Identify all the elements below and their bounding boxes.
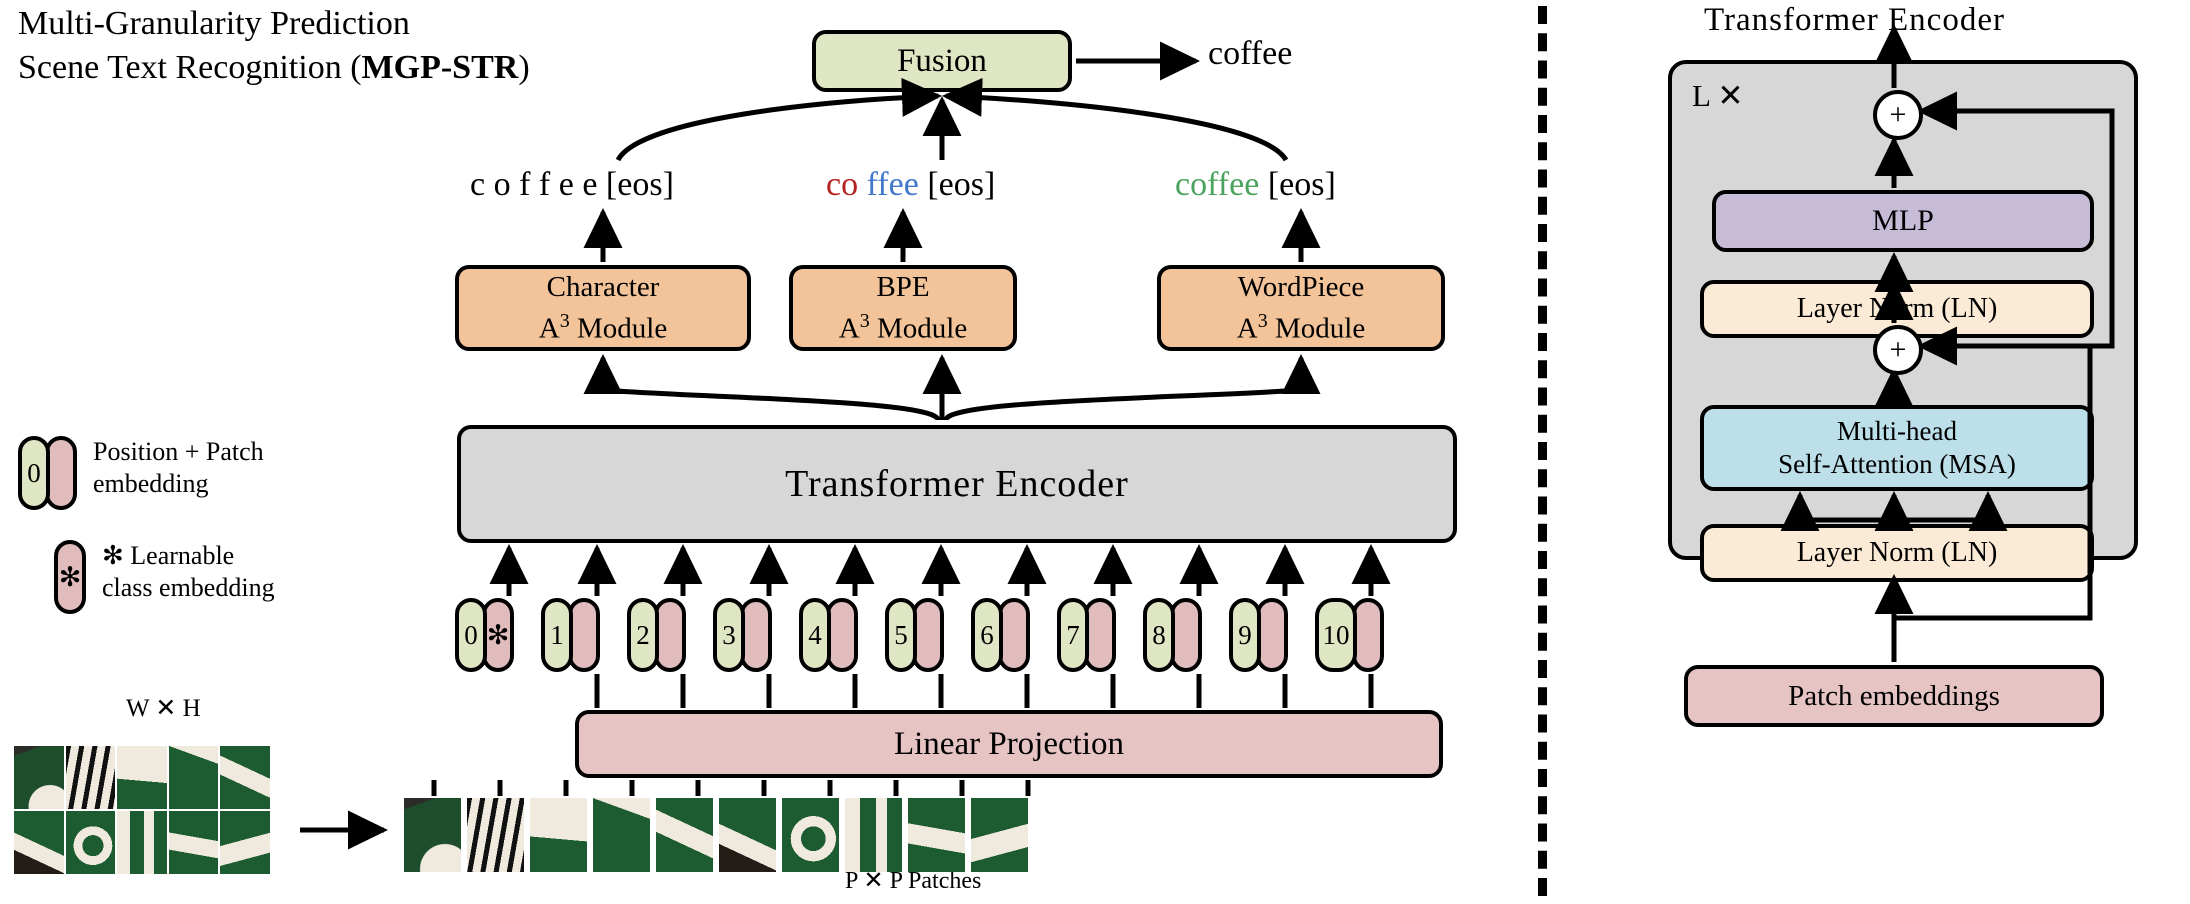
- bpe-prediction-part1: co: [826, 166, 858, 203]
- a3-letter: A: [1237, 313, 1258, 345]
- legend-text-position-patch: Position + Patch embedding: [93, 436, 264, 500]
- patch-embeddings-block[interactable]: Patch embeddings: [1684, 665, 2104, 727]
- linear-projection-label: Linear Projection: [894, 726, 1124, 763]
- patch-thumbnail: [971, 798, 1028, 872]
- image-size-label: W ✕ H: [126, 693, 201, 723]
- patch-thumbnail: [656, 798, 713, 872]
- patch-thumbnail: [593, 798, 650, 872]
- patch-thumbnail: [908, 798, 965, 872]
- character-prediction-eos: [eos]: [606, 166, 674, 203]
- position-embedding-pill: 6: [971, 598, 1003, 672]
- a3-module-word: Module: [570, 313, 667, 345]
- final-output-text: coffee: [1208, 35, 1292, 73]
- legend-item-class-embedding: ✻ ✻ Learnable class embedding: [18, 540, 418, 614]
- class-embedding-pill: ✻: [54, 540, 86, 614]
- position-embedding-pill: 2: [627, 598, 659, 672]
- mlp-label: MLP: [1872, 204, 1934, 238]
- layer-norm-bottom-block[interactable]: Layer Norm (LN): [1700, 524, 2094, 582]
- position-patch-pills-icon: 0: [18, 436, 77, 510]
- wordpiece-a3-module[interactable]: WordPiece A3 Module: [1157, 265, 1445, 351]
- residual-add-bottom-icon: +: [1873, 325, 1923, 375]
- patch-strip: [404, 798, 1028, 872]
- patch-thumbnail: [530, 798, 587, 872]
- bpe-prediction-part2: ffee: [867, 166, 919, 203]
- token-0[interactable]: 0✻: [455, 598, 514, 672]
- token-4[interactable]: 4: [799, 598, 858, 672]
- title-line-2: Scene Text Recognition (MGP-STR): [18, 46, 638, 90]
- source-patch: [169, 746, 219, 809]
- class-embedding-pill-icon: ✻: [54, 540, 86, 614]
- position-embedding-pill: 1: [541, 598, 573, 672]
- legend-text-class-embedding: ✻ Learnable class embedding: [102, 540, 275, 604]
- character-prediction: c o f f e e [eos]: [470, 166, 674, 204]
- a3-module-word: Module: [1268, 313, 1365, 345]
- position-embedding-pill: 8: [1143, 598, 1175, 672]
- title-line-1: Multi-Granularity Prediction: [18, 2, 638, 46]
- wordpiece-prediction: coffee [eos]: [1175, 166, 1336, 204]
- title-line-2-pre: Scene Text Recognition (: [18, 49, 362, 86]
- position-embedding-pill: 0: [455, 598, 487, 672]
- position-embedding-pill: 5: [885, 598, 917, 672]
- a3-superscript: 3: [1258, 310, 1268, 332]
- legend-line-2: class embedding: [102, 572, 275, 604]
- transformer-encoder-box[interactable]: Transformer Encoder: [457, 425, 1457, 543]
- source-patch: [14, 811, 64, 874]
- legend-line-1: ✻ Learnable: [102, 540, 275, 572]
- fusion-label: Fusion: [897, 43, 987, 80]
- patch-embeddings-label: Patch embeddings: [1788, 680, 2000, 713]
- multihead-self-attention-block[interactable]: Multi-head Self-Attention (MSA): [1700, 405, 2094, 491]
- token-8[interactable]: 8: [1143, 598, 1202, 672]
- legend-line-2: embedding: [93, 468, 264, 500]
- page-title: Multi-Granularity Prediction Scene Text …: [18, 2, 638, 90]
- token-7[interactable]: 7: [1057, 598, 1116, 672]
- source-patch: [220, 746, 270, 809]
- character-prediction-text: c o f f e e: [470, 166, 597, 203]
- character-a3-module-line1: Character: [547, 270, 660, 304]
- position-embedding-pill: 3: [713, 598, 745, 672]
- legend-line-1: Position + Patch: [93, 436, 264, 468]
- patch-thumbnail: [782, 798, 839, 872]
- wordpiece-prediction-eos: [eos]: [1268, 166, 1336, 203]
- token-1[interactable]: 1: [541, 598, 600, 672]
- position-embedding-pill: 4: [799, 598, 831, 672]
- a3-superscript: 3: [860, 310, 870, 332]
- character-a3-module[interactable]: Character A3 Module: [455, 265, 751, 351]
- wordpiece-prediction-word: coffee: [1175, 166, 1259, 203]
- msa-label-line2: Self-Attention (MSA): [1778, 448, 2016, 481]
- bpe-a3-module[interactable]: BPE A3 Module: [789, 265, 1017, 351]
- asterisk-icon: ✻: [59, 562, 82, 593]
- patch-thumbnail: [845, 798, 902, 872]
- source-patch: [117, 746, 167, 809]
- layer-repeat-label: L ✕: [1692, 78, 1744, 114]
- patch-thumbnail: [719, 798, 776, 872]
- panel-divider: [1538, 6, 1547, 896]
- token-3[interactable]: 3: [713, 598, 772, 672]
- fusion-box[interactable]: Fusion: [812, 30, 1072, 92]
- patch-thumbnail: [467, 798, 524, 872]
- a3-letter: A: [539, 313, 560, 345]
- wordpiece-a3-module-line1: WordPiece: [1238, 270, 1365, 304]
- patch-thumbnail: [404, 798, 461, 872]
- token-6[interactable]: 6: [971, 598, 1030, 672]
- a3-module-word: Module: [870, 313, 967, 345]
- token-10[interactable]: 10: [1315, 598, 1384, 672]
- source-patch: [220, 811, 270, 874]
- character-a3-module-line2: A3 Module: [539, 304, 667, 346]
- source-patch: [169, 811, 219, 874]
- layer-norm-bottom-label: Layer Norm (LN): [1797, 537, 1998, 569]
- position-embedding-pill: 7: [1057, 598, 1089, 672]
- layer-norm-top-label: Layer Norm (LN): [1797, 293, 1998, 325]
- position-pill-label: 0: [27, 458, 41, 489]
- right-panel-title: Transformer Encoder: [1704, 2, 2005, 39]
- bpe-a3-module-line1: BPE: [876, 270, 929, 304]
- bpe-prediction-eos: [eos]: [927, 166, 995, 203]
- position-pill: 0: [18, 436, 50, 510]
- legend: 0 Position + Patch embedding ✻ ✻ Learnab…: [18, 436, 418, 644]
- title-acronym: MGP-STR: [362, 49, 519, 86]
- position-embedding-pill: 9: [1229, 598, 1261, 672]
- source-patch: [66, 746, 116, 809]
- residual-add-top-icon: +: [1873, 90, 1923, 140]
- a3-letter: A: [839, 313, 860, 345]
- bpe-prediction: co ffee [eos]: [826, 166, 995, 204]
- token-9[interactable]: 9: [1229, 598, 1288, 672]
- mlp-block[interactable]: MLP: [1712, 190, 2094, 252]
- title-line-2-post: ): [518, 49, 529, 86]
- legend-item-position-patch: 0 Position + Patch embedding: [18, 436, 418, 510]
- bpe-a3-module-line2: A3 Module: [839, 304, 967, 346]
- source-patch: [117, 811, 167, 874]
- wordpiece-a3-module-line2: A3 Module: [1237, 304, 1365, 346]
- source-image-grid: [14, 746, 270, 874]
- source-patch: [14, 746, 64, 809]
- source-patch: [66, 811, 116, 874]
- transformer-encoder-label: Transformer Encoder: [785, 462, 1129, 506]
- position-embedding-pill: 10: [1315, 598, 1357, 672]
- token-5[interactable]: 5: [885, 598, 944, 672]
- a3-superscript: 3: [560, 310, 570, 332]
- linear-projection-box[interactable]: Linear Projection: [575, 710, 1443, 778]
- msa-label-line1: Multi-head: [1837, 415, 1957, 448]
- token-2[interactable]: 2: [627, 598, 686, 672]
